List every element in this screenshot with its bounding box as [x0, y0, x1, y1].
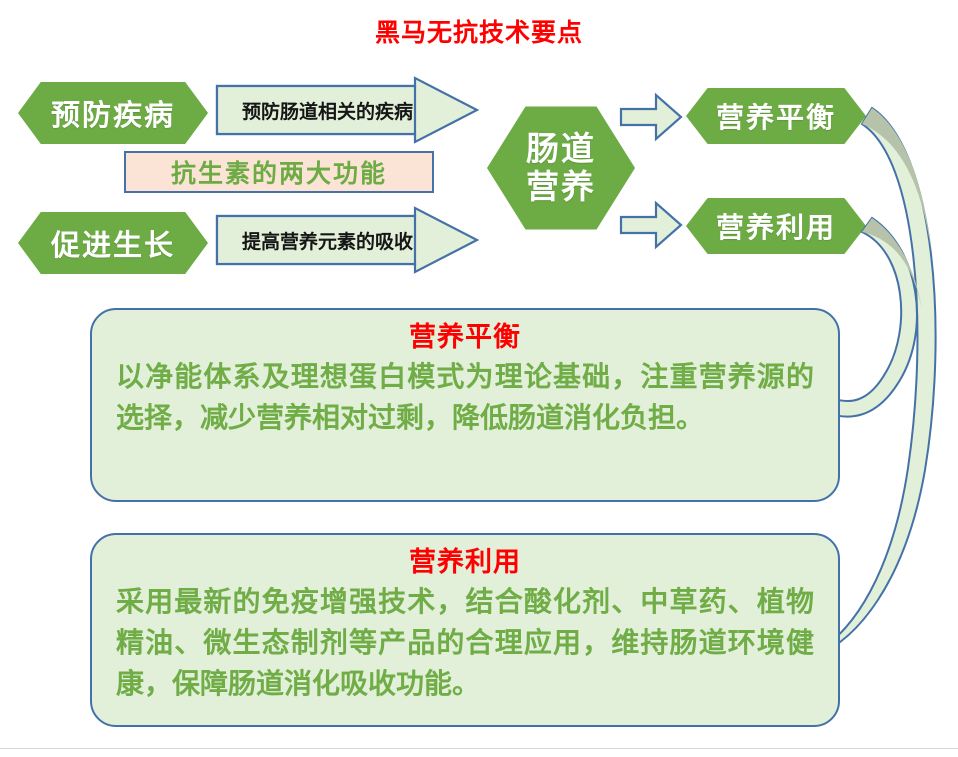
- detail-box-heading: 营养利用: [116, 545, 814, 581]
- slide-canvas: 黑马无抗技术要点 预防疾病 预防肠道相关的疾病 抗生素的两大功能 促进生长 提高…: [0, 0, 958, 757]
- detail-box-heading: 营养平衡: [116, 320, 814, 356]
- curved-arrow-shade-2: [862, 218, 922, 310]
- block-arrow-shape: [618, 92, 684, 142]
- antibiotic-functions-label: 抗生素的两大功能: [171, 154, 387, 190]
- outcome-label: 营养利用: [716, 206, 836, 246]
- outcome-nutrition-balance[interactable]: 营养平衡: [686, 88, 866, 144]
- block-arrow-shape: [618, 200, 684, 250]
- outcome-nutrition-utilization[interactable]: 营养利用: [686, 198, 866, 254]
- detail-arrow-label: 预防肠道相关的疾病: [225, 76, 430, 144]
- center-node-line1: 肠道: [526, 130, 596, 168]
- detail-box-nutrition-utilization: 营养利用 采用最新的免疫增强技术，结合酸化剂、中草药、植物精油、微生态制剂等产品…: [90, 533, 840, 727]
- detail-arrow-prevent-disease[interactable]: 预防肠道相关的疾病: [215, 76, 480, 144]
- curved-arrow-shade-1: [862, 108, 931, 250]
- function-tag-label: 预防疾病: [51, 92, 175, 134]
- center-node-line2: 营养: [526, 168, 596, 206]
- function-tag-promote-growth[interactable]: 促进生长: [18, 212, 208, 274]
- detail-box-body: 以净能体系及理想蛋白模式为理论基础，注重营养源的选择，减少营养相对过剩，降低肠道…: [116, 356, 814, 438]
- detail-box-nutrition-balance: 营养平衡 以净能体系及理想蛋白模式为理论基础，注重营养源的选择，减少营养相对过剩…: [90, 308, 840, 502]
- function-tag-prevent-disease[interactable]: 预防疾病: [18, 82, 208, 144]
- footer-divider: [0, 748, 958, 749]
- arrow-right-icon-balance: [618, 92, 684, 142]
- detail-arrow-promote-growth[interactable]: 提高营养元素的吸收: [215, 206, 480, 274]
- detail-box-body: 采用最新的免疫增强技术，结合酸化剂、中草药、植物精油、微生态制剂等产品的合理应用…: [116, 581, 814, 704]
- center-node-gut-nutrition[interactable]: 肠道 营养: [487, 104, 635, 232]
- page-title: 黑马无抗技术要点: [0, 16, 958, 50]
- detail-arrow-label: 提高营养元素的吸收: [225, 206, 430, 274]
- antibiotic-functions-banner: 抗生素的两大功能: [124, 151, 434, 193]
- function-tag-label: 促进生长: [51, 222, 175, 264]
- arrow-right-icon-utilization: [618, 200, 684, 250]
- outcome-label: 营养平衡: [716, 96, 836, 136]
